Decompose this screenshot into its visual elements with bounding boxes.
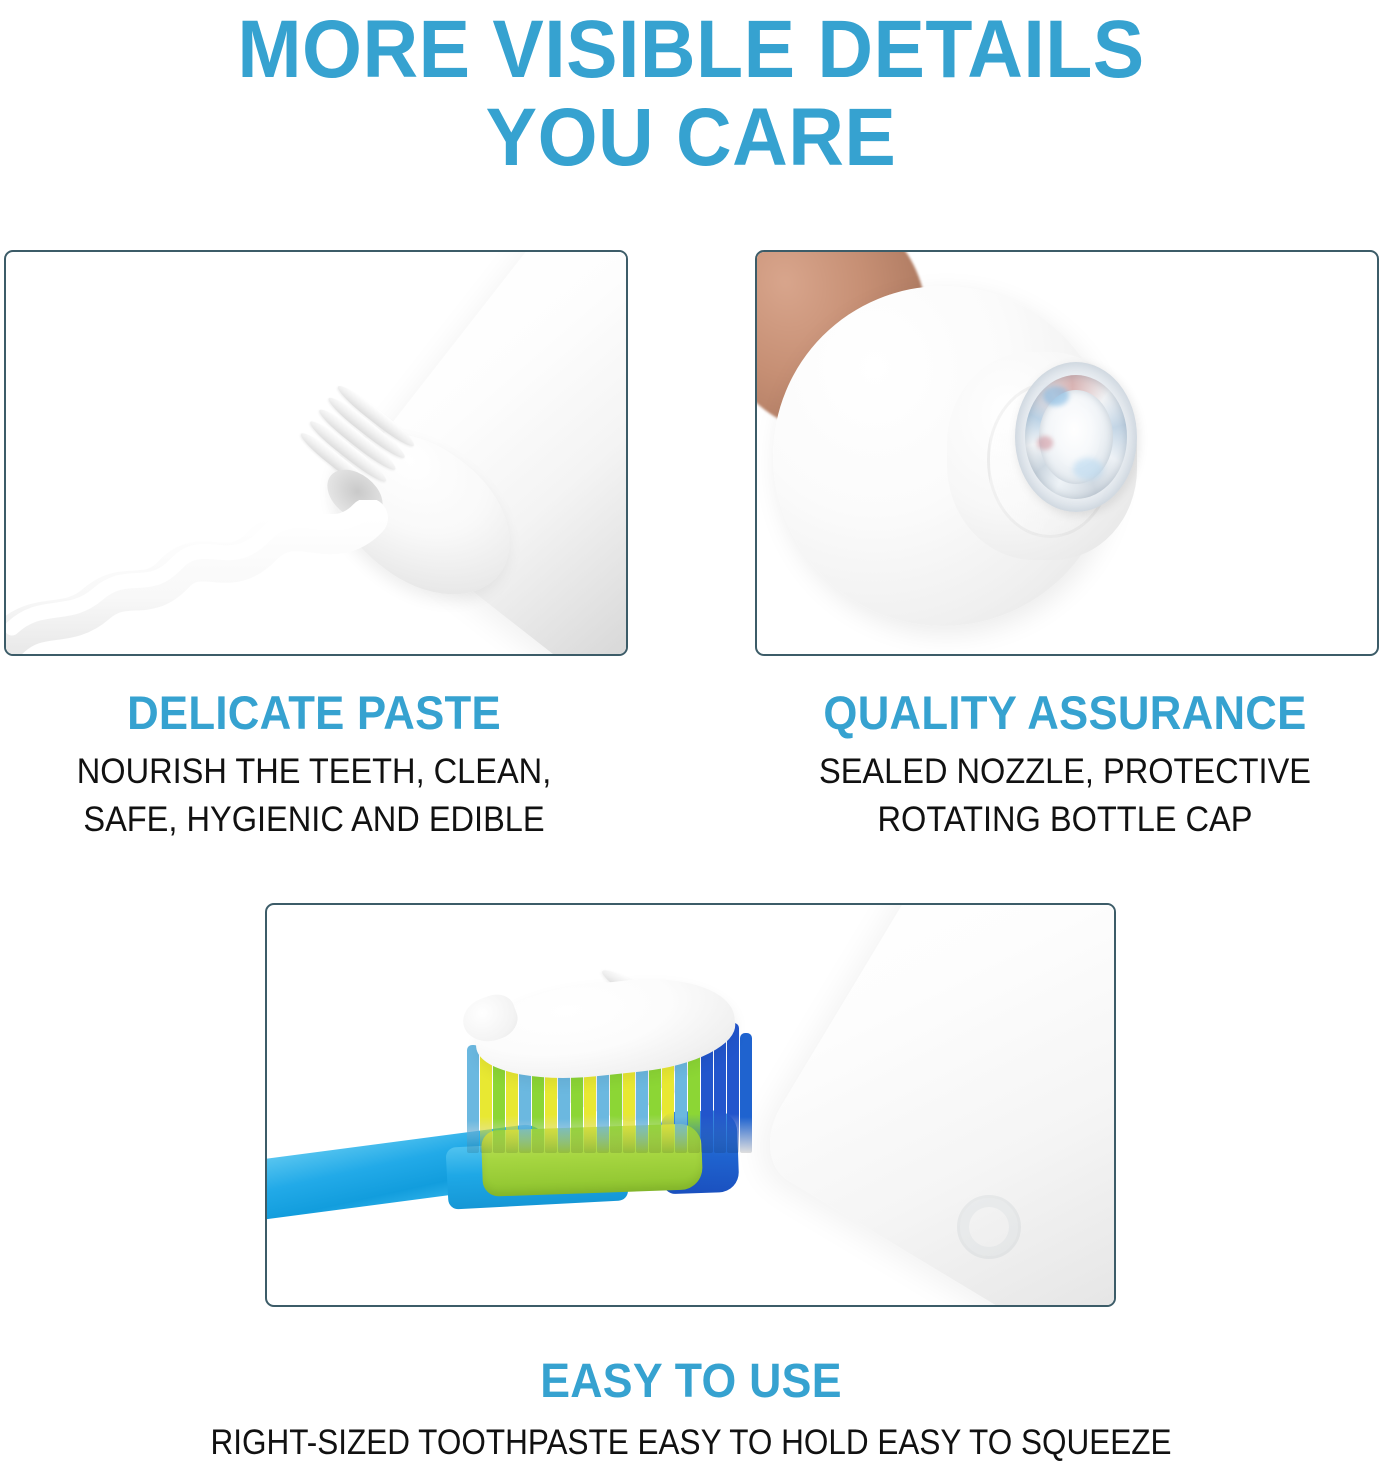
caption-title-easy-to-use: EASY TO USE	[48, 1355, 1333, 1409]
page-title: MORE VISIBLE DETAILS YOU CARE	[41, 0, 1340, 182]
caption-quality-assurance: QUALITY ASSURANCE SEALED NOZZLE, PROTECT…	[755, 686, 1375, 844]
quality-assurance-photo	[757, 252, 1377, 654]
nozzle-pink-glint	[1037, 436, 1053, 450]
bristle-column	[740, 1033, 752, 1153]
page-title-line-2: YOU CARE	[41, 94, 1340, 182]
bristle-column	[467, 1045, 479, 1153]
delicate-paste-photo	[6, 252, 626, 654]
caption-body-line: ROTATING BOTTLE CAP	[777, 796, 1354, 844]
caption-body-line: SEALED NOZZLE, PROTECTIVE	[777, 748, 1354, 796]
toothpaste-tube-body-squeezing	[750, 905, 1114, 1305]
caption-body-easy-to-use: RIGHT-SIZED TOOTHPASTE EASY TO HOLD EASY…	[69, 1419, 1313, 1467]
easy-to-use-photo	[267, 905, 1114, 1305]
caption-delicate-paste: DELICATE PASTE NOURISH THE TEETH, CLEAN,…	[4, 686, 624, 844]
feature-image-panel-delicate-paste	[4, 250, 628, 656]
sealed-nozzle	[1015, 362, 1137, 512]
caption-title-quality-assurance: QUALITY ASSURANCE	[777, 686, 1354, 740]
caption-body-quality-assurance: SEALED NOZZLE, PROTECTIVE ROTATING BOTTL…	[777, 748, 1354, 844]
caption-body-line: SAFE, HYGIENIC AND EDIBLE	[26, 796, 603, 844]
caption-easy-to-use: EASY TO USE RIGHT-SIZED TOOTHPASTE EASY …	[0, 1355, 1382, 1467]
caption-body-line: RIGHT-SIZED TOOTHPASTE EASY TO HOLD EASY…	[69, 1419, 1313, 1467]
feature-image-panel-easy-to-use	[265, 903, 1116, 1307]
nozzle-blue-glint	[1043, 386, 1069, 406]
paste-ribbon	[6, 500, 396, 654]
feature-image-panel-quality-assurance	[755, 250, 1379, 656]
page-title-line-1: MORE VISIBLE DETAILS	[41, 6, 1340, 94]
caption-title-delicate-paste: DELICATE PASTE	[26, 686, 603, 740]
watermark-swirl	[957, 1195, 1021, 1259]
bristle-column	[727, 1023, 739, 1153]
caption-body-line: NOURISH THE TEETH, CLEAN,	[26, 748, 603, 796]
caption-body-delicate-paste: NOURISH THE TEETH, CLEAN, SAFE, HYGIENIC…	[26, 748, 603, 844]
nozzle-white-glint	[1073, 458, 1103, 480]
